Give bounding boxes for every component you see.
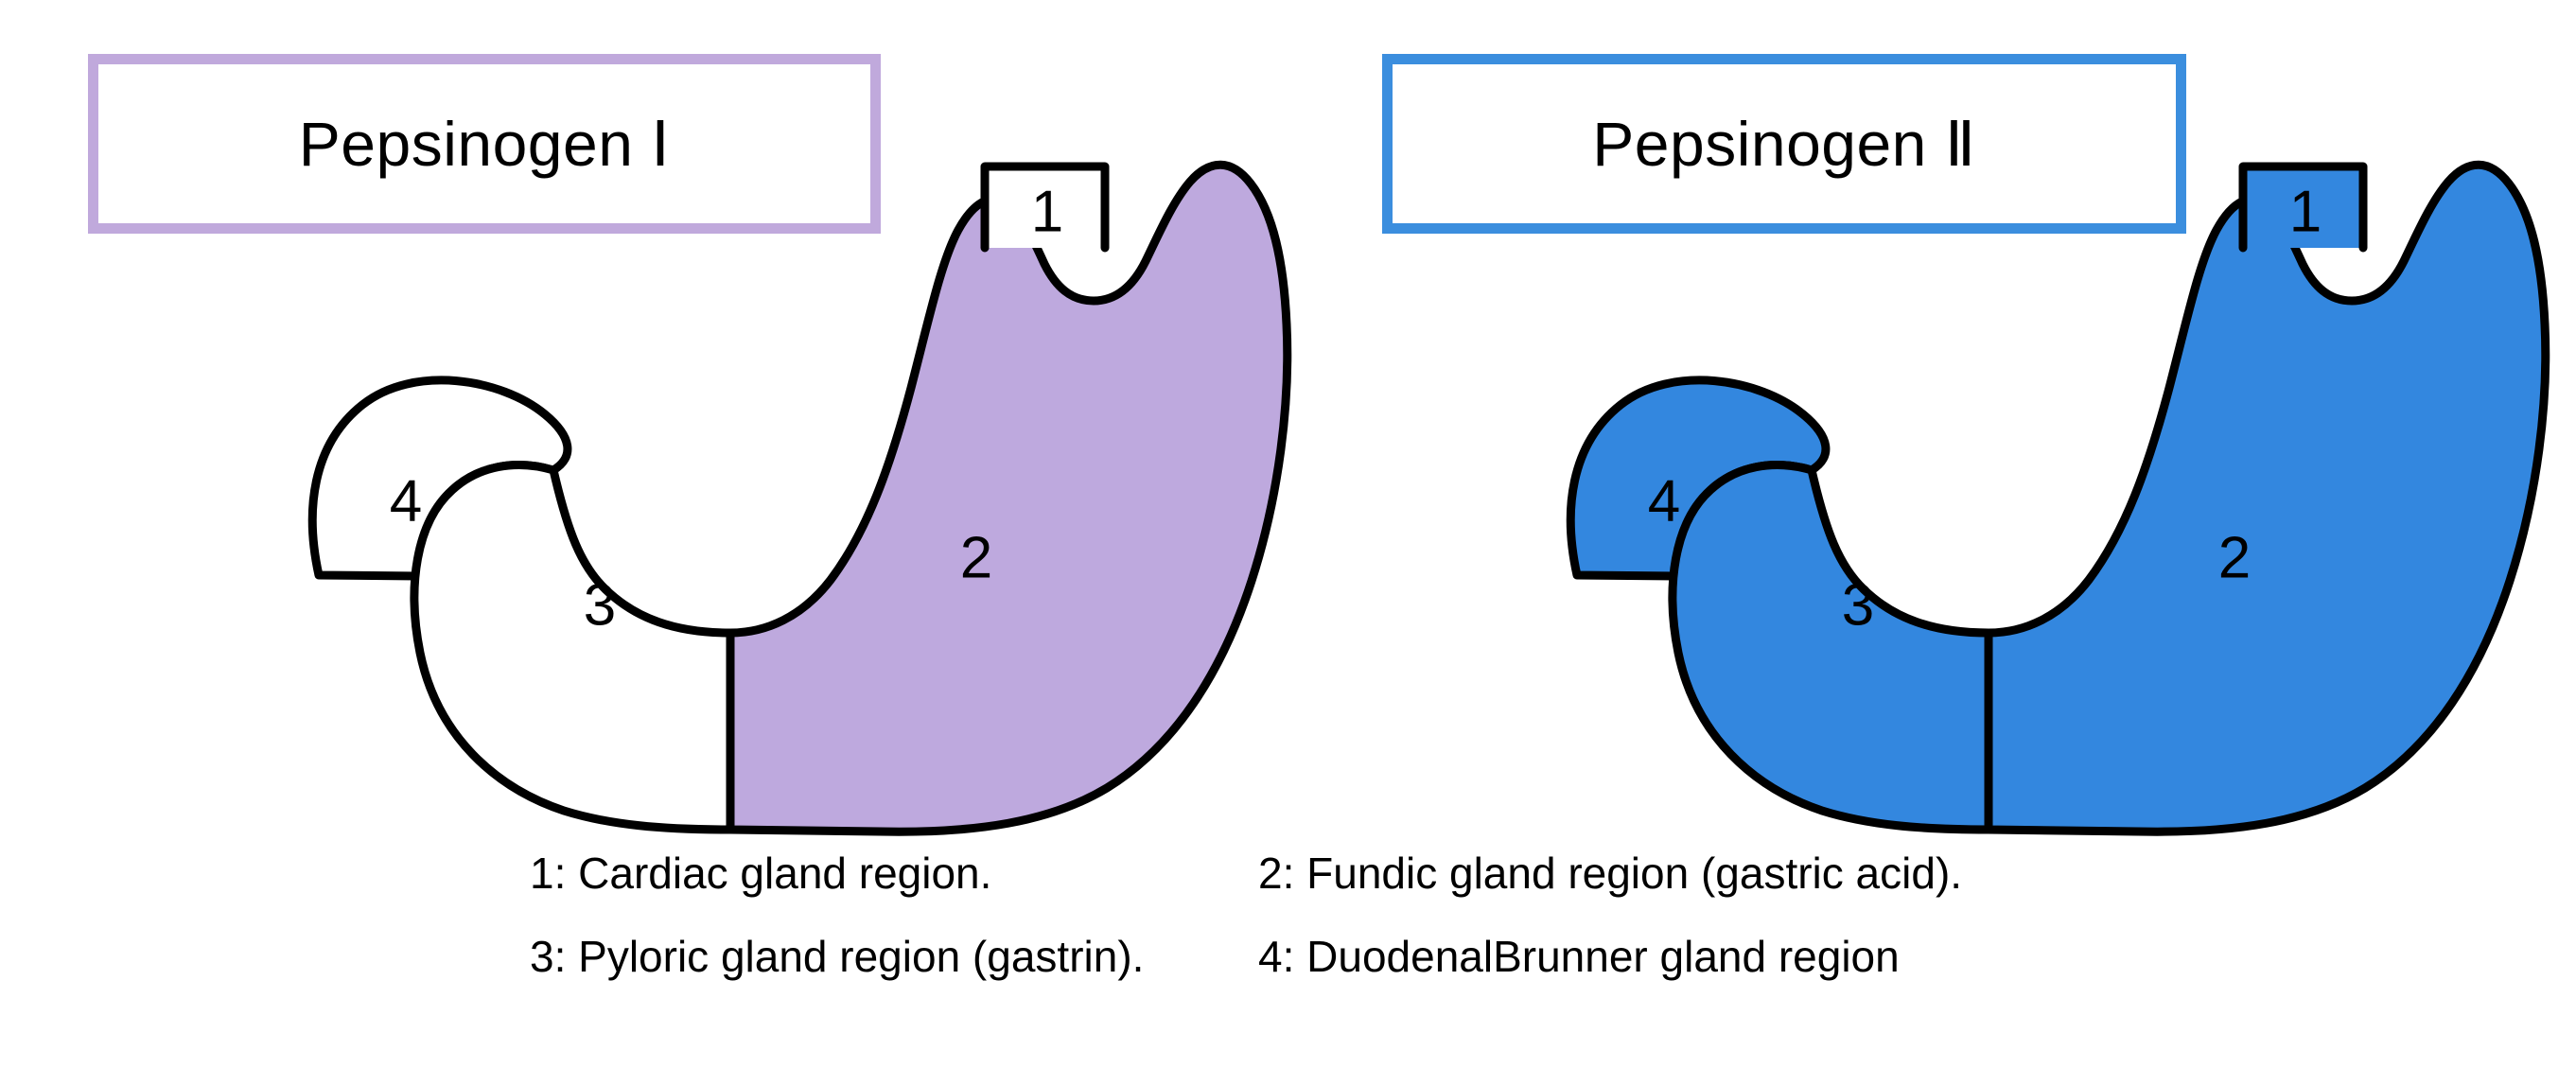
region-label-1-left: 1 [1031,179,1063,244]
region-label-2-right: 2 [2218,525,2251,590]
diagram-page: Pepsinogen Ⅰ Pepsinogen Ⅱ 1 2 3 4 [0,0,2576,1068]
region-label-1-right: 1 [2289,179,2322,244]
legend-item-3: 3: Pyloric gland region (gastrin). [530,935,1258,978]
legend-item-2: 2: Fundic gland region (gastric acid). [1258,851,2110,895]
legend-item-4: 4: DuodenalBrunner gland region [1258,935,2110,978]
legend-row: 3: Pyloric gland region (gastrin). 4: Du… [530,935,2138,1018]
region-label-4-left: 4 [390,468,422,534]
region-3-pyloric-shape-right [1673,465,1989,830]
stomach-diagram-pepsinogen-2: 1 2 3 4 [1258,0,2576,851]
region-2-fundic-shape-right [1989,165,2546,832]
stomach-diagram-pepsinogen-1: 1 2 3 4 [0,0,1324,851]
region-2-fundic-shape-left [730,165,1288,832]
region-label-3-left: 3 [584,572,616,638]
region-label-2-left: 2 [960,525,992,590]
legend: 1: Cardiac gland region. 2: Fundic gland… [530,851,2138,1018]
region-label-3-right: 3 [1842,572,1874,638]
region-3-pyloric-shape-left [414,465,730,830]
region-label-4-right: 4 [1648,468,1680,534]
legend-item-1: 1: Cardiac gland region. [530,851,1258,895]
legend-row: 1: Cardiac gland region. 2: Fundic gland… [530,851,2138,935]
